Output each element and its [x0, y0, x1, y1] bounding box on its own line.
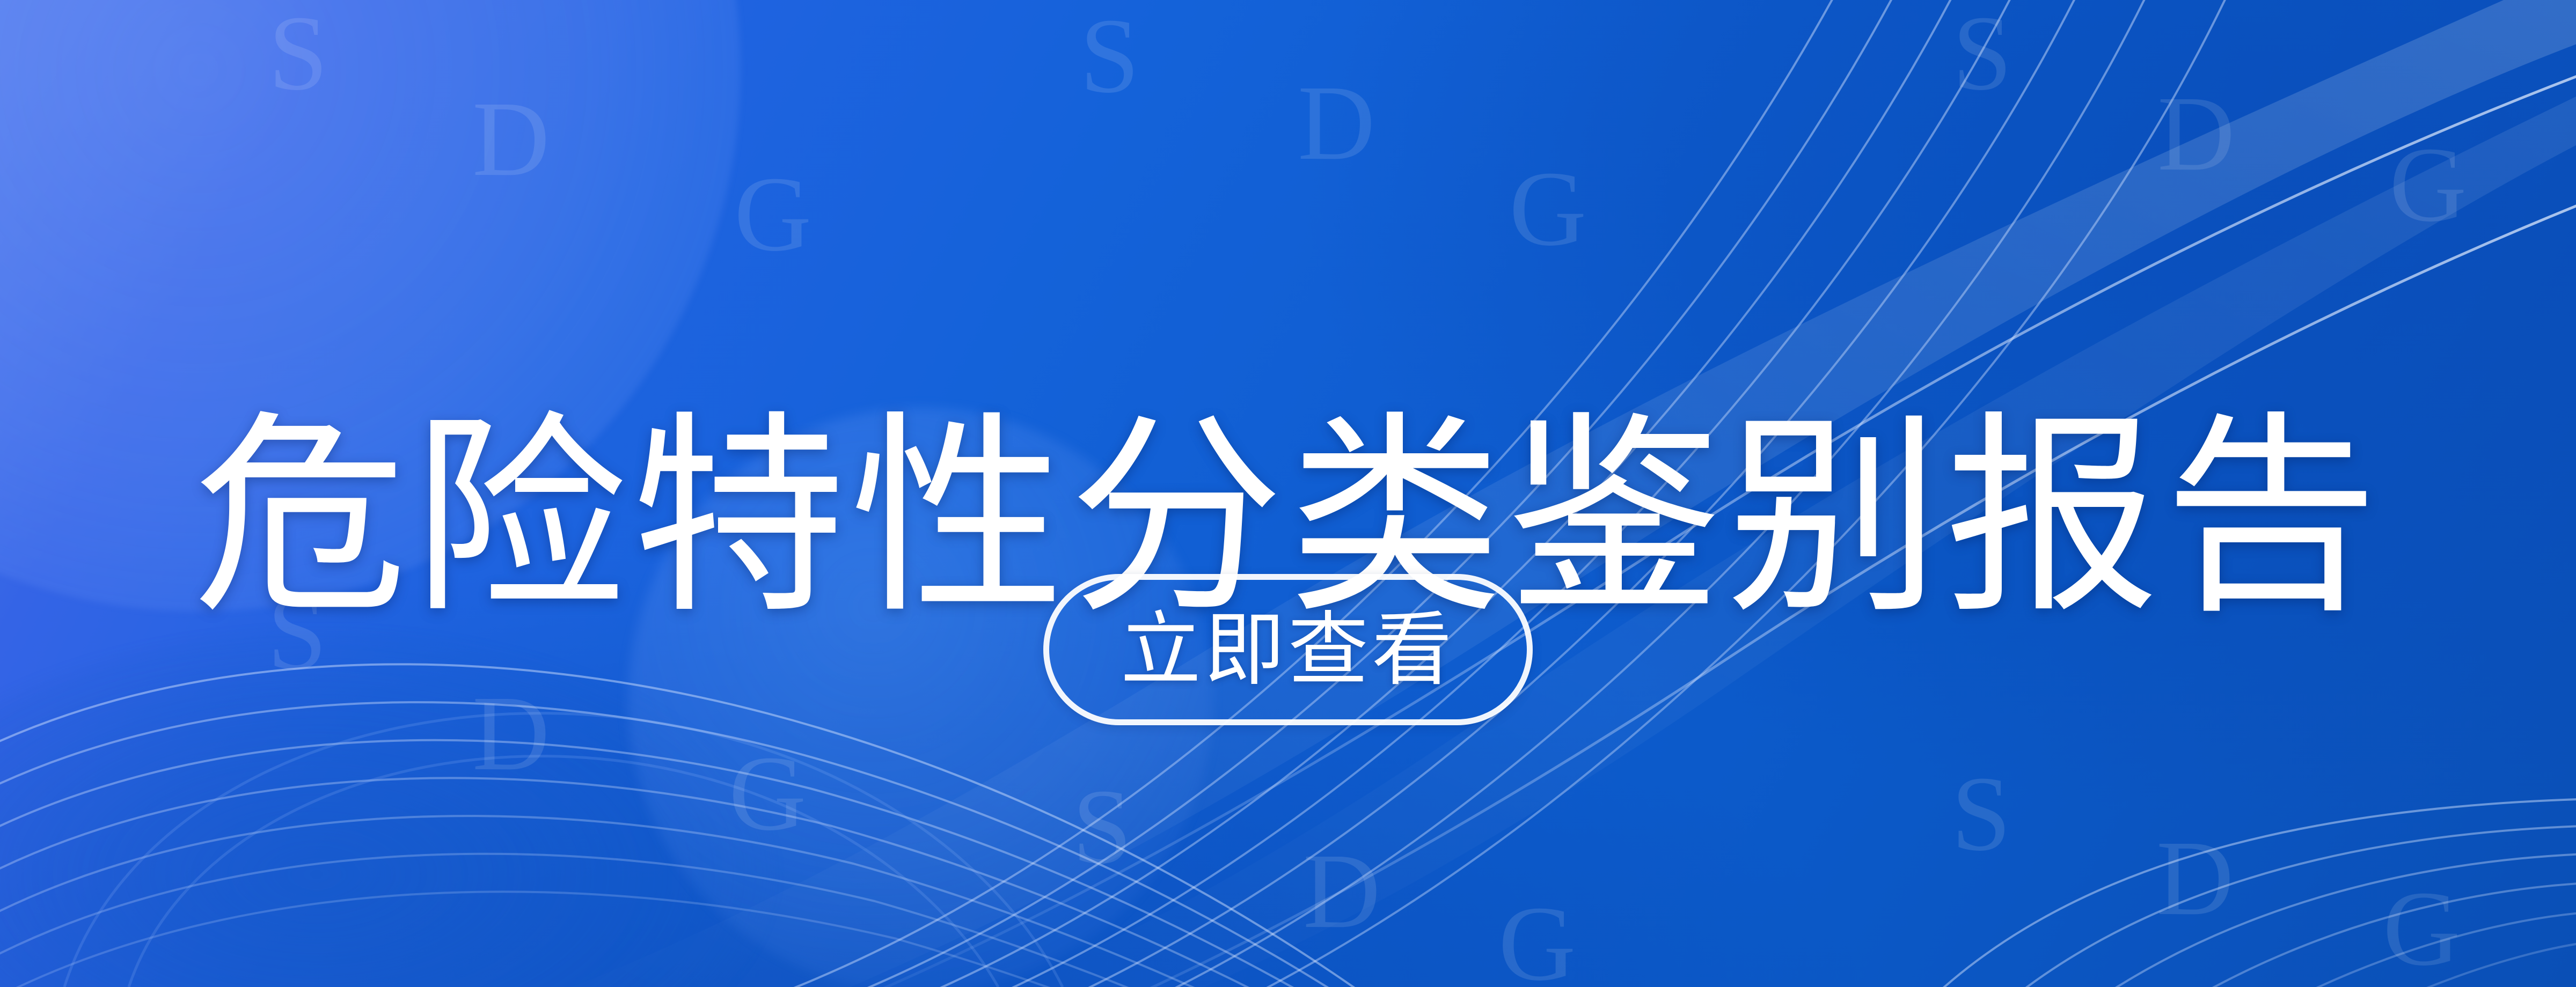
promo-banner: SDGSDGSDGSDGSDGSDG 危险特性分类鉴别报告 立即查看 [0, 0, 2576, 987]
view-now-button-label: 立即查看 [1121, 609, 1455, 690]
cta-container: 立即查看 [0, 574, 2576, 725]
banner-content: 危险特性分类鉴别报告 立即查看 [0, 0, 2576, 987]
view-now-button[interactable]: 立即查看 [1043, 574, 1533, 725]
